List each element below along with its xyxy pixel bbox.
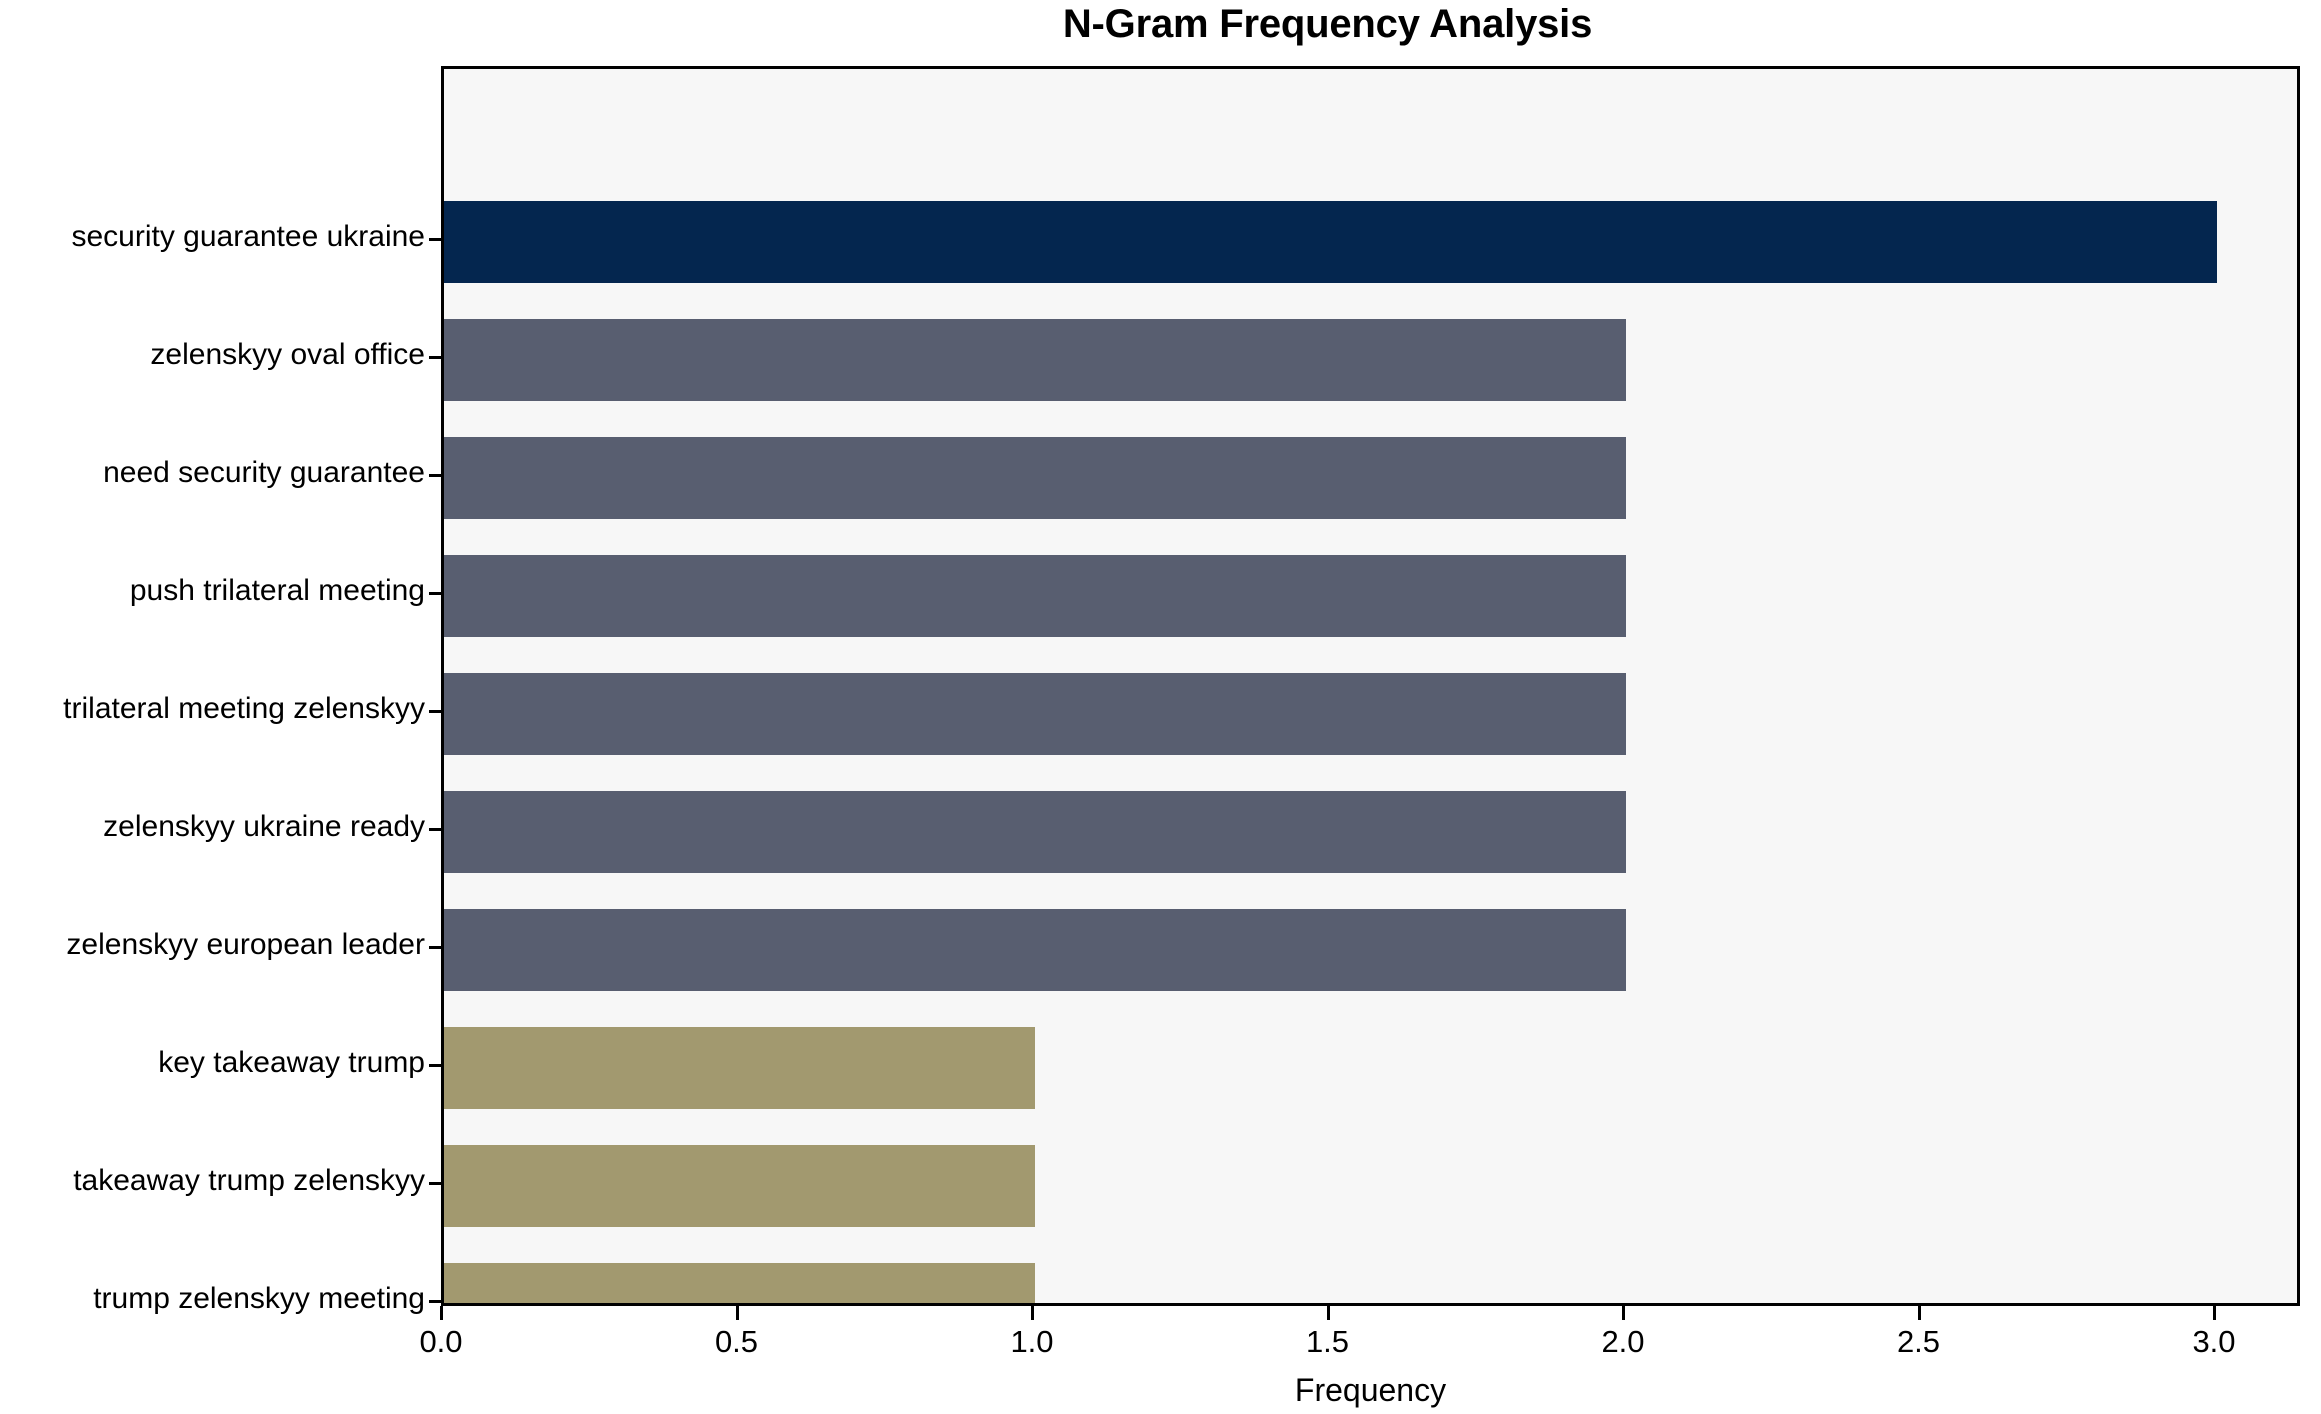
y-axis-tick-label: zelenskyy oval office — [150, 340, 425, 370]
x-axis-tick — [1918, 1306, 1921, 1320]
x-axis-tick-label: 0.5 — [677, 1326, 797, 1357]
y-axis-tick — [429, 710, 442, 713]
y-axis-tick-label: trump zelenskyy meeting — [93, 1284, 425, 1314]
bar[interactable] — [444, 555, 1626, 637]
x-axis-tick-label: 2.5 — [1859, 1326, 1979, 1357]
bar-group — [444, 319, 1626, 401]
x-axis-tick — [440, 1306, 443, 1320]
x-axis-tick — [1031, 1306, 1034, 1320]
y-axis-tick-label: takeaway trump zelenskyy — [73, 1166, 425, 1196]
bar[interactable] — [444, 673, 1626, 755]
bar[interactable] — [444, 1263, 1035, 1306]
x-axis-tick — [1622, 1306, 1625, 1320]
page-title: N-Gram Frequency Analysis — [441, 2, 2214, 47]
bar-group — [444, 201, 2217, 283]
bar[interactable] — [444, 1145, 1035, 1227]
x-axis-tick-label: 2.0 — [1563, 1326, 1683, 1357]
chart-figure: N-Gram Frequency Analysis Frequency secu… — [0, 0, 2321, 1414]
x-axis-tick-label: 3.0 — [2154, 1326, 2274, 1357]
bar[interactable] — [444, 201, 2217, 283]
x-axis-tick-label: 0.0 — [381, 1326, 501, 1357]
plot-area — [441, 66, 2300, 1306]
y-axis-tick-label: security guarantee ukraine — [71, 222, 425, 252]
y-axis-tick — [429, 356, 442, 359]
bar-group — [444, 673, 1626, 755]
bar[interactable] — [444, 319, 1626, 401]
y-axis-tick-label: zelenskyy ukraine ready — [103, 812, 425, 842]
y-axis-tick — [429, 1300, 442, 1303]
bar-group — [444, 437, 1626, 519]
bar[interactable] — [444, 437, 1626, 519]
y-axis-tick-label: key takeaway trump — [158, 1048, 425, 1078]
bar-group — [444, 1027, 1035, 1109]
y-axis-tick — [429, 238, 442, 241]
bar-group — [444, 555, 1626, 637]
y-axis-tick-label: need security guarantee — [103, 458, 425, 488]
x-axis-tick-label: 1.5 — [1268, 1326, 1388, 1357]
bar-group — [444, 909, 1626, 991]
y-axis-tick — [429, 828, 442, 831]
x-axis-tick — [1327, 1306, 1330, 1320]
x-axis-tick-label: 1.0 — [972, 1326, 1092, 1357]
bar[interactable] — [444, 909, 1626, 991]
y-axis-tick-label: trilateral meeting zelenskyy — [63, 694, 425, 724]
bar[interactable] — [444, 791, 1626, 873]
x-axis-title: Frequency — [441, 1372, 2300, 1409]
bar-group — [444, 1145, 1035, 1227]
bar-group — [444, 791, 1626, 873]
x-axis-tick — [736, 1306, 739, 1320]
bar[interactable] — [444, 1027, 1035, 1109]
y-axis-tick — [429, 1064, 442, 1067]
x-axis-tick — [2213, 1306, 2216, 1320]
y-axis-tick — [429, 1182, 442, 1185]
y-axis-tick-label: zelenskyy european leader — [66, 930, 425, 960]
bar-group — [444, 1263, 1035, 1306]
y-axis-tick — [429, 474, 442, 477]
y-axis-tick — [429, 946, 442, 949]
y-axis-tick-label: push trilateral meeting — [130, 576, 425, 606]
y-axis-tick — [429, 592, 442, 595]
